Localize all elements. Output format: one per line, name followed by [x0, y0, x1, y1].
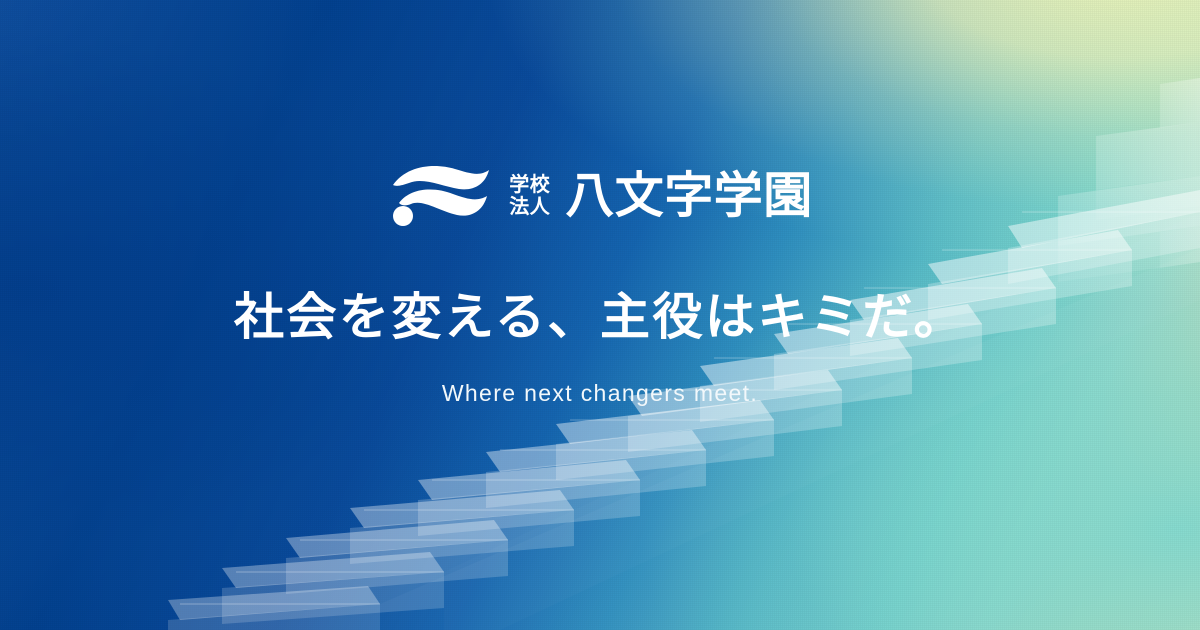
- logo-prefix-line-2: 法人: [509, 196, 550, 216]
- hero-tagline: Where next changers meet.: [0, 379, 1200, 409]
- hero-banner: 学校 法人 八文字学園 社会を変える、主役はキミだ。 Where next ch…: [0, 0, 1200, 630]
- logo-prefix-kanji: 学校 法人: [509, 174, 550, 217]
- logo-wordmark: 八文字学園: [565, 171, 813, 220]
- wave-mark-icon: [387, 163, 495, 227]
- brand-logo-lockup[interactable]: 学校 法人 八文字学園: [0, 163, 1200, 227]
- logo-prefix-line-1: 学校: [509, 174, 550, 194]
- hero-headline: 社会を変える、主役はキミだ。: [0, 288, 1200, 347]
